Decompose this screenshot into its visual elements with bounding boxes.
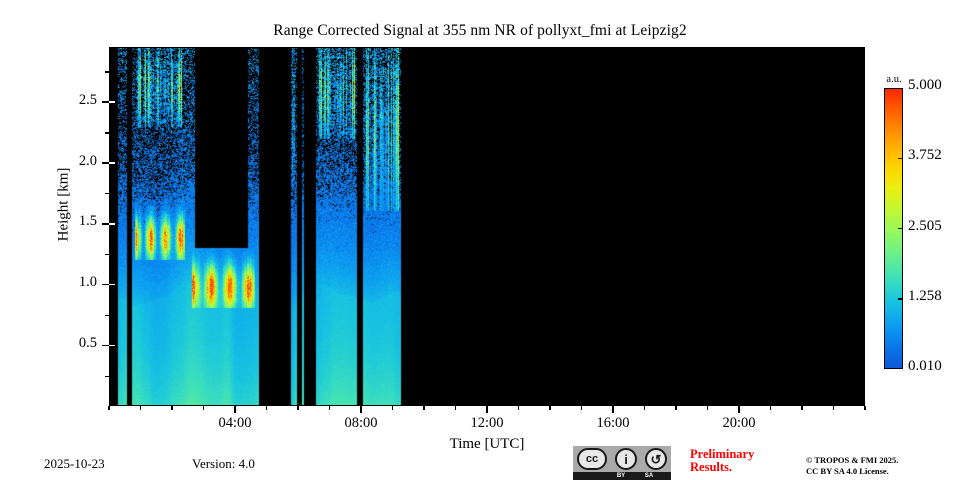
copyright-note: © TROPOS & FMI 2025. CC BY SA 4.0 Licens…	[806, 455, 956, 477]
x-minor-tick	[140, 406, 141, 410]
y-tick-mark	[102, 162, 109, 164]
colorbar-tick-5.000: 5.000	[884, 88, 903, 89]
y-tick-mark-inner	[109, 162, 115, 164]
colorbar-tick-mark	[898, 158, 903, 159]
x-minor-tick	[675, 406, 676, 410]
colorbar-tick-0.010: 0.010	[884, 369, 903, 370]
cc-badge-labels: BY SA	[573, 472, 671, 480]
cc-sa-icon: ↺	[645, 448, 667, 470]
y-tick-mark	[102, 284, 109, 286]
y-tick-mark	[102, 345, 109, 347]
lidar-quicklook-canvas	[110, 48, 864, 405]
colorbar-tick-mark	[898, 298, 903, 299]
y-minor-tick	[105, 315, 109, 316]
preliminary-results-note: Preliminary Results.	[690, 448, 798, 474]
y-minor-tick	[105, 132, 109, 133]
colorbar-tick-mark	[898, 228, 903, 229]
y-tick-mark	[102, 223, 109, 225]
x-minor-tick	[644, 406, 645, 410]
x-minor-tick	[833, 406, 834, 410]
colorbar-tick-label: 3.752	[908, 147, 942, 164]
x-minor-tick	[392, 406, 393, 410]
colorbar-tick-label: 5.000	[908, 77, 942, 94]
y-minor-tick	[105, 376, 109, 377]
x-minor-tick	[297, 406, 298, 410]
page-title: Range Corrected Signal at 355 nm NR of p…	[0, 22, 960, 40]
x-minor-tick	[581, 406, 582, 410]
x-tick-label: 08:00	[329, 415, 393, 432]
copyright-line-1: © TROPOS & FMI 2025.	[806, 455, 956, 466]
cc-badge-icons: cc i ↺	[573, 446, 671, 472]
y-tick-label: 1.0	[79, 274, 97, 291]
x-minor-tick	[549, 406, 550, 410]
x-minor-tick	[770, 406, 771, 410]
x-tick-label: 20:00	[707, 415, 771, 432]
x-tick-label: 04:00	[203, 415, 267, 432]
x-minor-tick	[171, 406, 172, 410]
colorbar-tick-2.505: 2.505	[884, 229, 903, 230]
y-tick-label: 1.5	[79, 213, 97, 230]
cc-by-label: BY	[607, 473, 635, 479]
x-tick-mark	[486, 406, 488, 413]
footer-version: Version: 4.0	[192, 456, 255, 472]
x-minor-tick	[455, 406, 456, 410]
x-tick-label: 16:00	[581, 415, 645, 432]
copyright-line-2: CC BY SA 4.0 License.	[806, 466, 956, 477]
cc-sa-label: SA	[635, 473, 663, 479]
y-tick-2.0: 2.0	[0, 163, 109, 164]
x-minor-tick	[707, 406, 708, 410]
y-tick-mark-inner	[109, 284, 115, 286]
y-minor-tick	[105, 71, 109, 72]
preliminary-line-2: Results.	[690, 461, 798, 474]
y-minor-tick	[105, 254, 109, 255]
colorbar-unit-label: a.u.	[878, 74, 910, 85]
colorbar-tick-label: 1.258	[908, 288, 942, 305]
x-tick-label: 12:00	[455, 415, 519, 432]
cc-icon: cc	[577, 448, 607, 470]
x-tick-mark	[738, 406, 740, 413]
y-tick-1.0: 1.0	[0, 284, 109, 285]
x-minor-tick	[203, 406, 204, 410]
colorbar-tick-label: 2.505	[908, 218, 942, 235]
y-tick-1.5: 1.5	[0, 223, 109, 224]
y-tick-label: 2.0	[79, 153, 97, 170]
y-tick-0.5: 0.5	[0, 345, 109, 346]
y-tick-mark	[102, 101, 109, 103]
x-minor-tick	[108, 406, 109, 410]
x-minor-tick	[864, 406, 865, 410]
x-minor-tick	[801, 406, 802, 410]
y-tick-label: 2.5	[79, 92, 97, 109]
y-tick-mark-inner	[109, 345, 115, 347]
x-tick-mark	[234, 406, 236, 413]
y-tick-mark-inner	[109, 223, 115, 225]
x-tick-mark	[360, 406, 362, 413]
x-minor-tick	[518, 406, 519, 410]
colorbar-tick-label: 0.010	[908, 358, 942, 375]
creative-commons-badge[interactable]: cc i ↺ BY SA	[573, 446, 671, 480]
y-tick-label: 0.5	[79, 335, 97, 352]
x-tick-mark	[612, 406, 614, 413]
y-axis-label: Height [km]	[56, 125, 73, 285]
cc-by-icon: i	[615, 448, 637, 470]
x-minor-tick	[423, 406, 424, 410]
colorbar-tick-1.258: 1.258	[884, 299, 903, 300]
footer-date: 2025-10-23	[44, 456, 105, 472]
y-minor-tick	[105, 193, 109, 194]
y-tick-mark-inner	[109, 101, 115, 103]
colorbar-tick-3.752: 3.752	[884, 158, 903, 159]
y-tick-2.5: 2.5	[0, 102, 109, 103]
x-minor-tick	[266, 406, 267, 410]
x-minor-tick	[329, 406, 330, 410]
heatmap-plot-area[interactable]	[109, 47, 865, 406]
